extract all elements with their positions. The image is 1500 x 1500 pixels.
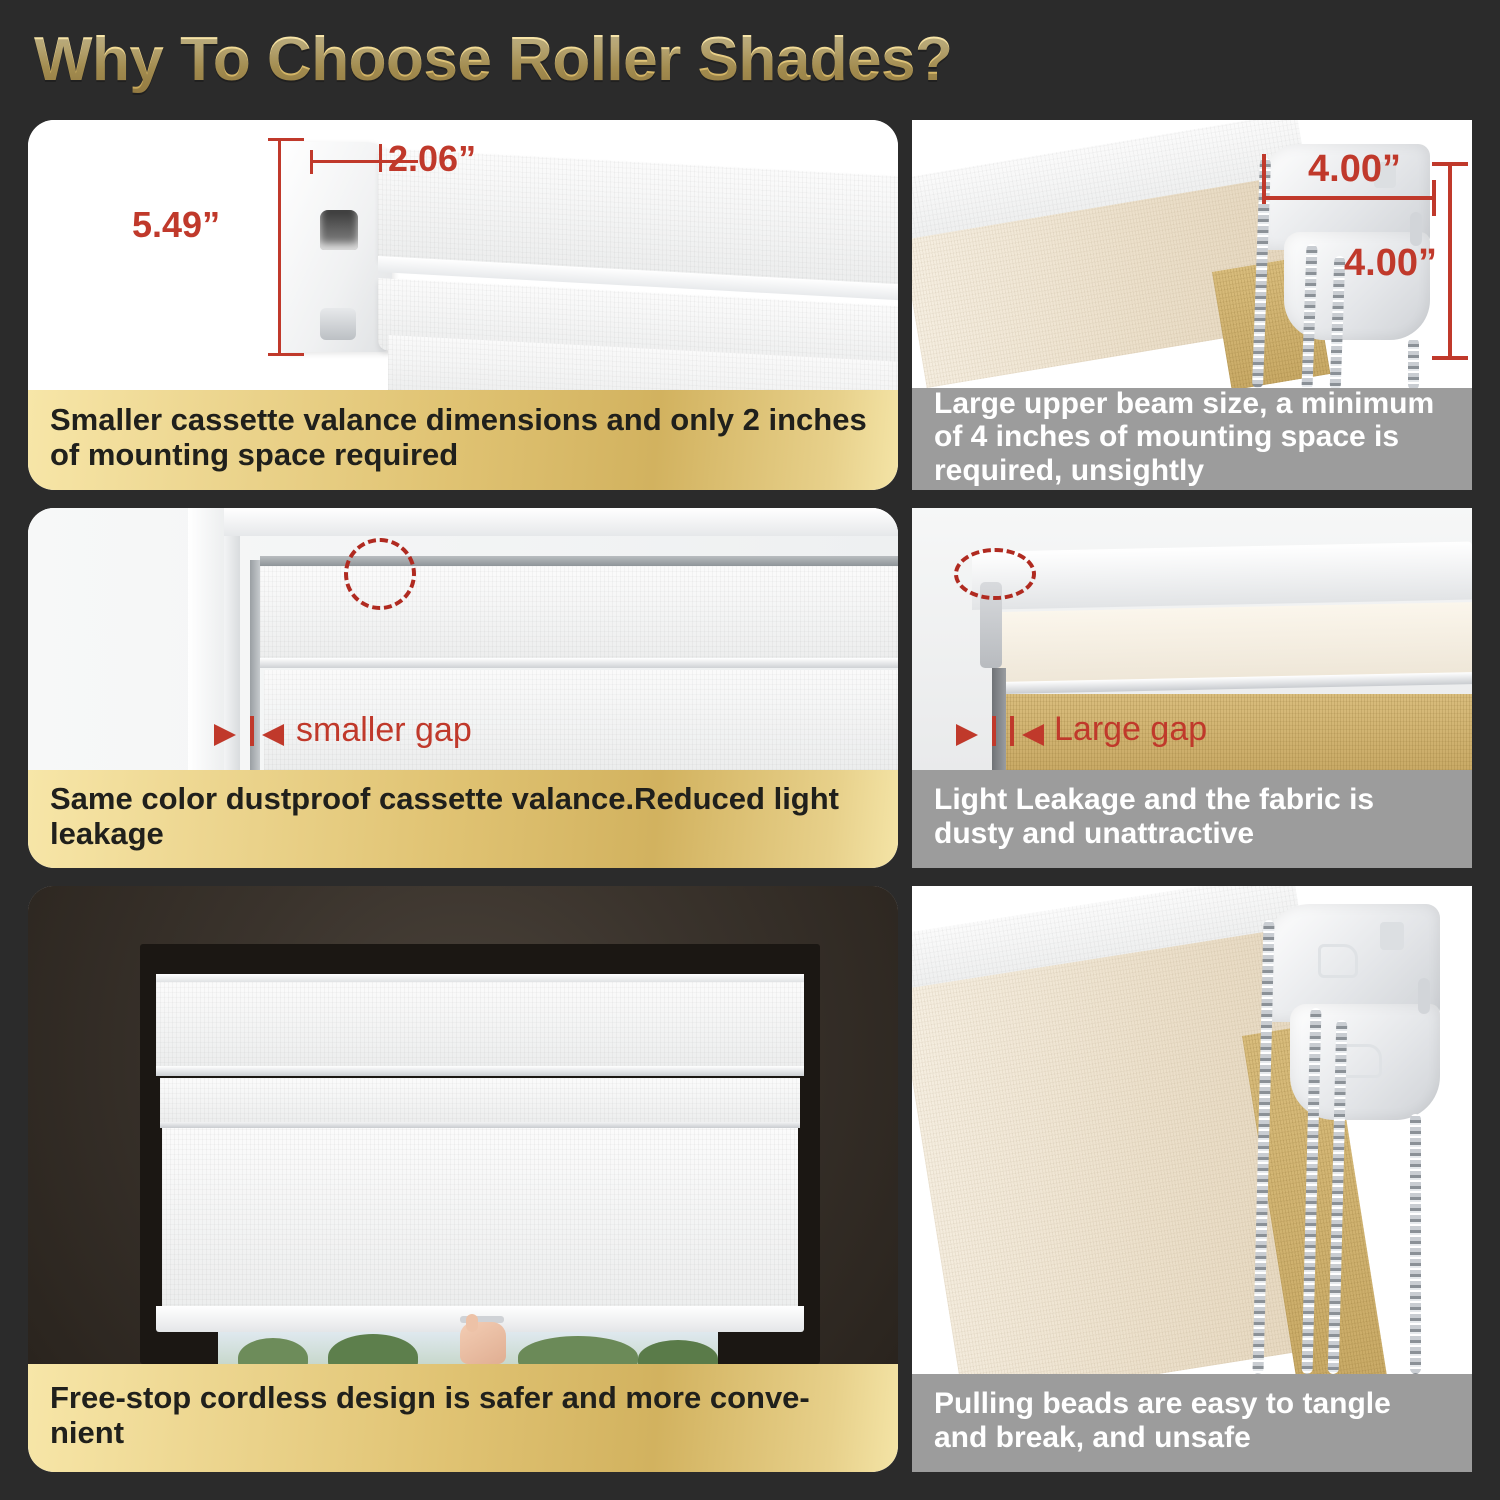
- panel-1-caption: Smaller cassette valance dimensions and …: [28, 390, 898, 490]
- height-dimension-label: 5.49”: [132, 204, 220, 246]
- beam-width-dimension-line: [1264, 196, 1436, 200]
- bead-chain: [1410, 1114, 1421, 1374]
- window-frame-closeup-illustration: smaller gap: [28, 508, 898, 770]
- panel-large-upper-beam: 4.00” 4.00” Large upper beam size, a min…: [912, 120, 1472, 490]
- gap-arrow-right: [1022, 724, 1044, 746]
- page-title: Why To Choose Roller Shades?: [34, 24, 952, 95]
- cassette-valance: [156, 982, 804, 1068]
- panel-4-caption: Light Leakage and the fabric is dusty an…: [912, 770, 1472, 868]
- detail-highlight-circle: [954, 548, 1036, 600]
- panel-6-image: [912, 886, 1472, 1374]
- beam-height-dimension-label: 4.00”: [1344, 242, 1437, 285]
- gap-callout-label: smaller gap: [296, 711, 472, 750]
- light-leak-closeup-illustration: Large gap: [912, 508, 1472, 770]
- gap-callout-label: Large gap: [1054, 710, 1207, 749]
- panel-5-image: [28, 886, 898, 1364]
- beam-width-dimension-label: 4.00”: [1308, 148, 1401, 191]
- detail-highlight-circle: [344, 538, 416, 610]
- panel-1-image: 5.49” 2.06”: [28, 120, 898, 390]
- gap-arrow-right: [262, 724, 284, 746]
- panel-3-image: smaller gap: [28, 508, 898, 770]
- bead-chain-roller-shade-illustration: [912, 886, 1472, 1374]
- panel-3-caption: Same color dustproof cassette valance.Re…: [28, 770, 898, 868]
- panel-2-image: 4.00” 4.00”: [912, 120, 1472, 388]
- gap-arrow-left: [956, 724, 978, 746]
- panel-cordless-design: Free-stop cordless design is safer and m…: [28, 886, 898, 1472]
- panel-2-caption: Large upper beam size, a minimum of 4 in…: [912, 388, 1472, 490]
- panel-light-leakage: Large gap Light Leakage and the fabric i…: [912, 508, 1472, 868]
- shade-fabric: [162, 1128, 798, 1310]
- panel-dustproof-valance: smaller gap Same color dustproof cassett…: [28, 508, 898, 868]
- cassette-valance-illustration: 5.49” 2.06”: [28, 120, 898, 390]
- roller-shade-bracket-illustration: 4.00” 4.00”: [912, 120, 1472, 388]
- panel-6-caption: Pulling beads are easy to tangle and bre…: [912, 1374, 1472, 1472]
- installed-shade-room-scene: [28, 886, 898, 1364]
- width-dimension-label: 2.06”: [388, 138, 476, 180]
- height-dimension-line: [278, 138, 281, 356]
- panel-smaller-cassette: 5.49” 2.06” Smaller cassette valance dim…: [28, 120, 898, 490]
- gap-arrow-left: [214, 724, 236, 746]
- beam-height-dimension-line: [1448, 162, 1452, 360]
- panel-4-image: Large gap: [912, 508, 1472, 770]
- panel-pulling-beads: Pulling beads are easy to tangle and bre…: [912, 886, 1472, 1472]
- infographic-root: Why To Choose Roller Shades?: [0, 0, 1500, 1500]
- panel-5-caption: Free-stop cordless design is safer and m…: [28, 1364, 898, 1472]
